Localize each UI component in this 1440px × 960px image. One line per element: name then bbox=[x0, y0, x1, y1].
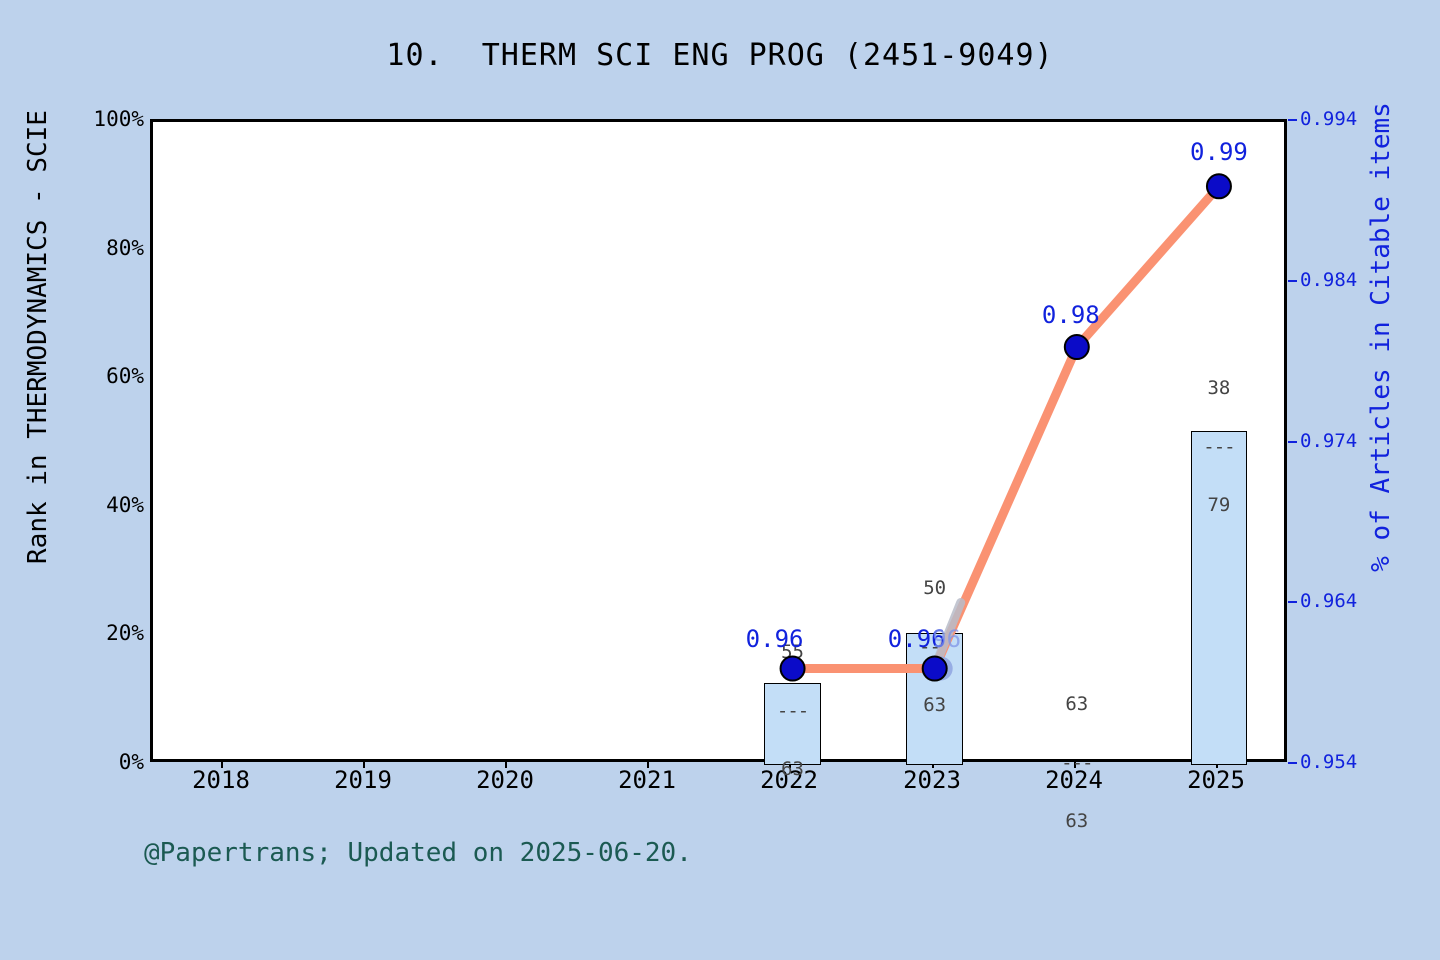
x-axis-tick-label: 2025 bbox=[1187, 766, 1245, 794]
fraction-divider: --- bbox=[747, 702, 839, 721]
x-axis-tick-label: 2021 bbox=[618, 766, 676, 794]
point-label-2022: 0.96 bbox=[746, 625, 804, 653]
chart-title: 10. THERM SCI ENG PROG (2451-9049) bbox=[0, 38, 1440, 73]
right-axis-tick-label: 0.954 bbox=[1300, 751, 1357, 773]
footer-note: @Papertrans; Updated on 2025-06-20. bbox=[144, 838, 692, 868]
right-axis-tick-mark bbox=[1288, 280, 1297, 282]
point-label-2024: 0.98 bbox=[1042, 301, 1100, 329]
right-axis-tick-mark bbox=[1288, 441, 1297, 443]
right-axis-tick-label: 0.994 bbox=[1300, 108, 1357, 130]
point-label-2025: 0.99 bbox=[1190, 138, 1248, 166]
fraction-numerator: 63 bbox=[1031, 695, 1123, 714]
bar-fraction-2024: 63 --- 63 bbox=[1031, 657, 1123, 869]
fraction-denominator: 63 bbox=[1031, 812, 1123, 831]
fraction-divider: --- bbox=[1173, 438, 1265, 457]
data-point-marker bbox=[1065, 335, 1089, 359]
bar-fraction-2025: 38 --- 79 bbox=[1173, 341, 1265, 553]
right-axis-tick-label: 0.984 bbox=[1300, 269, 1357, 291]
point-label-2023-ghost: 96 bbox=[932, 625, 961, 653]
right-axis-title: % of Articles in Citable items bbox=[1366, 0, 1396, 687]
right-axis-tick-mark bbox=[1288, 119, 1297, 121]
right-axis-tick-label: 0.964 bbox=[1300, 590, 1357, 612]
fraction-denominator: 63 bbox=[889, 696, 981, 715]
fraction-divider: --- bbox=[1031, 754, 1123, 773]
fraction-numerator: 50 bbox=[889, 579, 981, 598]
left-axis-title: Rank in THERMODYNAMICS - SCIE bbox=[23, 0, 53, 687]
chart-root: 10. THERM SCI ENG PROG (2451-9049) 0% 20… bbox=[0, 0, 1440, 960]
right-axis-tick-mark bbox=[1288, 601, 1297, 603]
right-axis-tick-label: 0.974 bbox=[1300, 430, 1357, 452]
plot-area: 55 --- 63 50 --- 63 63 --- 63 38 --- 79 bbox=[150, 119, 1287, 762]
plot-inner: 55 --- 63 50 --- 63 63 --- 63 38 --- 79 bbox=[153, 122, 1284, 759]
fraction-numerator: 38 bbox=[1173, 379, 1265, 398]
x-axis-tick-label: 2023 bbox=[903, 766, 961, 794]
data-point-marker bbox=[1207, 174, 1231, 198]
x-axis-tick-label: 2018 bbox=[192, 766, 250, 794]
right-axis-tick-mark bbox=[1288, 762, 1297, 764]
x-axis-tick-label: 2019 bbox=[334, 766, 392, 794]
x-axis-tick-label: 2020 bbox=[476, 766, 534, 794]
left-axis-tick-label: 0% bbox=[24, 750, 144, 774]
series-line bbox=[793, 186, 1219, 668]
fraction-denominator: 63 bbox=[747, 760, 839, 779]
fraction-denominator: 79 bbox=[1173, 496, 1265, 515]
